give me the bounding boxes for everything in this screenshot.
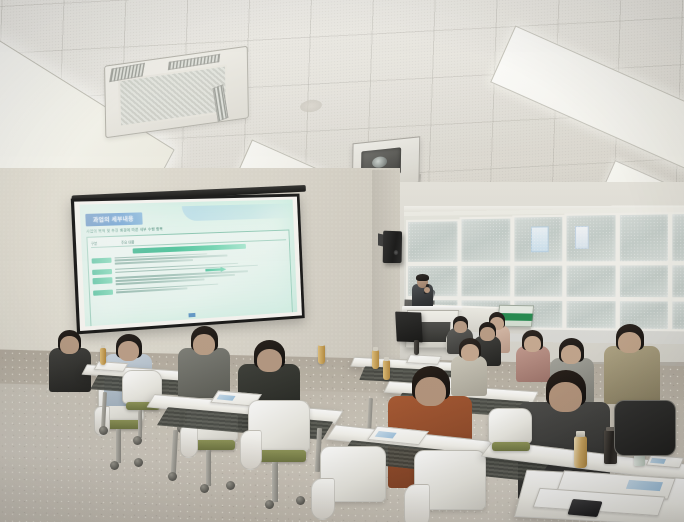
beverage-bottle (383, 360, 390, 380)
slide-title: 과업의 세부내용 (85, 212, 143, 226)
podium-monitor (395, 312, 423, 343)
slide-page-marker (189, 313, 196, 317)
glass-panel (670, 263, 684, 299)
handout (406, 354, 442, 364)
slide-row-tag (92, 269, 112, 276)
beverage-bottle (318, 345, 325, 364)
table-caster (99, 426, 108, 435)
slide-header-cell: 주요 내용 (121, 233, 286, 244)
glass-panel (670, 299, 684, 331)
window-notice-icon (531, 226, 549, 252)
window-notice-icon (575, 226, 589, 249)
coffee-can (414, 340, 419, 355)
slide-ribbon-decoration (182, 203, 293, 221)
glass-panel (512, 264, 564, 299)
slide-row-tag (92, 277, 112, 284)
wall-mounted-speaker (383, 231, 402, 263)
glass-panel (512, 215, 564, 264)
wall-corner-shadow (372, 170, 398, 370)
slide-content-table: 구분 주요 내용 (86, 230, 293, 327)
glass-panel (564, 263, 617, 299)
slide-row-tag (93, 289, 113, 296)
glass-panel (564, 299, 617, 331)
glass-panel (406, 219, 460, 264)
slide-row-tag (92, 257, 112, 264)
glass-panel (564, 213, 617, 264)
speaker-cone-icon (393, 250, 398, 255)
smartphone (567, 499, 602, 517)
slide-header-cell: 구분 (91, 239, 118, 245)
glass-panel (618, 212, 670, 263)
glass-panel (459, 264, 512, 299)
presenter-hair (416, 274, 429, 281)
glass-panel (670, 212, 684, 264)
table-caster (168, 472, 177, 481)
projected-slide: 과업의 세부내용 사업의 목적 및 추진 배경에 따른 세부 수행 항목 구분 … (80, 200, 298, 327)
presenter-hand (424, 287, 430, 293)
glass-panel (618, 263, 670, 299)
seminar-room-photo: 과업의 세부내용 사업의 목적 및 추진 배경에 따른 세부 수행 항목 구분 … (0, 0, 684, 522)
projector-lens-icon (372, 156, 387, 169)
beverage-bottle (372, 350, 379, 369)
glass-panel (459, 217, 512, 264)
beverage-bottle (100, 348, 106, 365)
beverage-bottle (574, 436, 587, 468)
